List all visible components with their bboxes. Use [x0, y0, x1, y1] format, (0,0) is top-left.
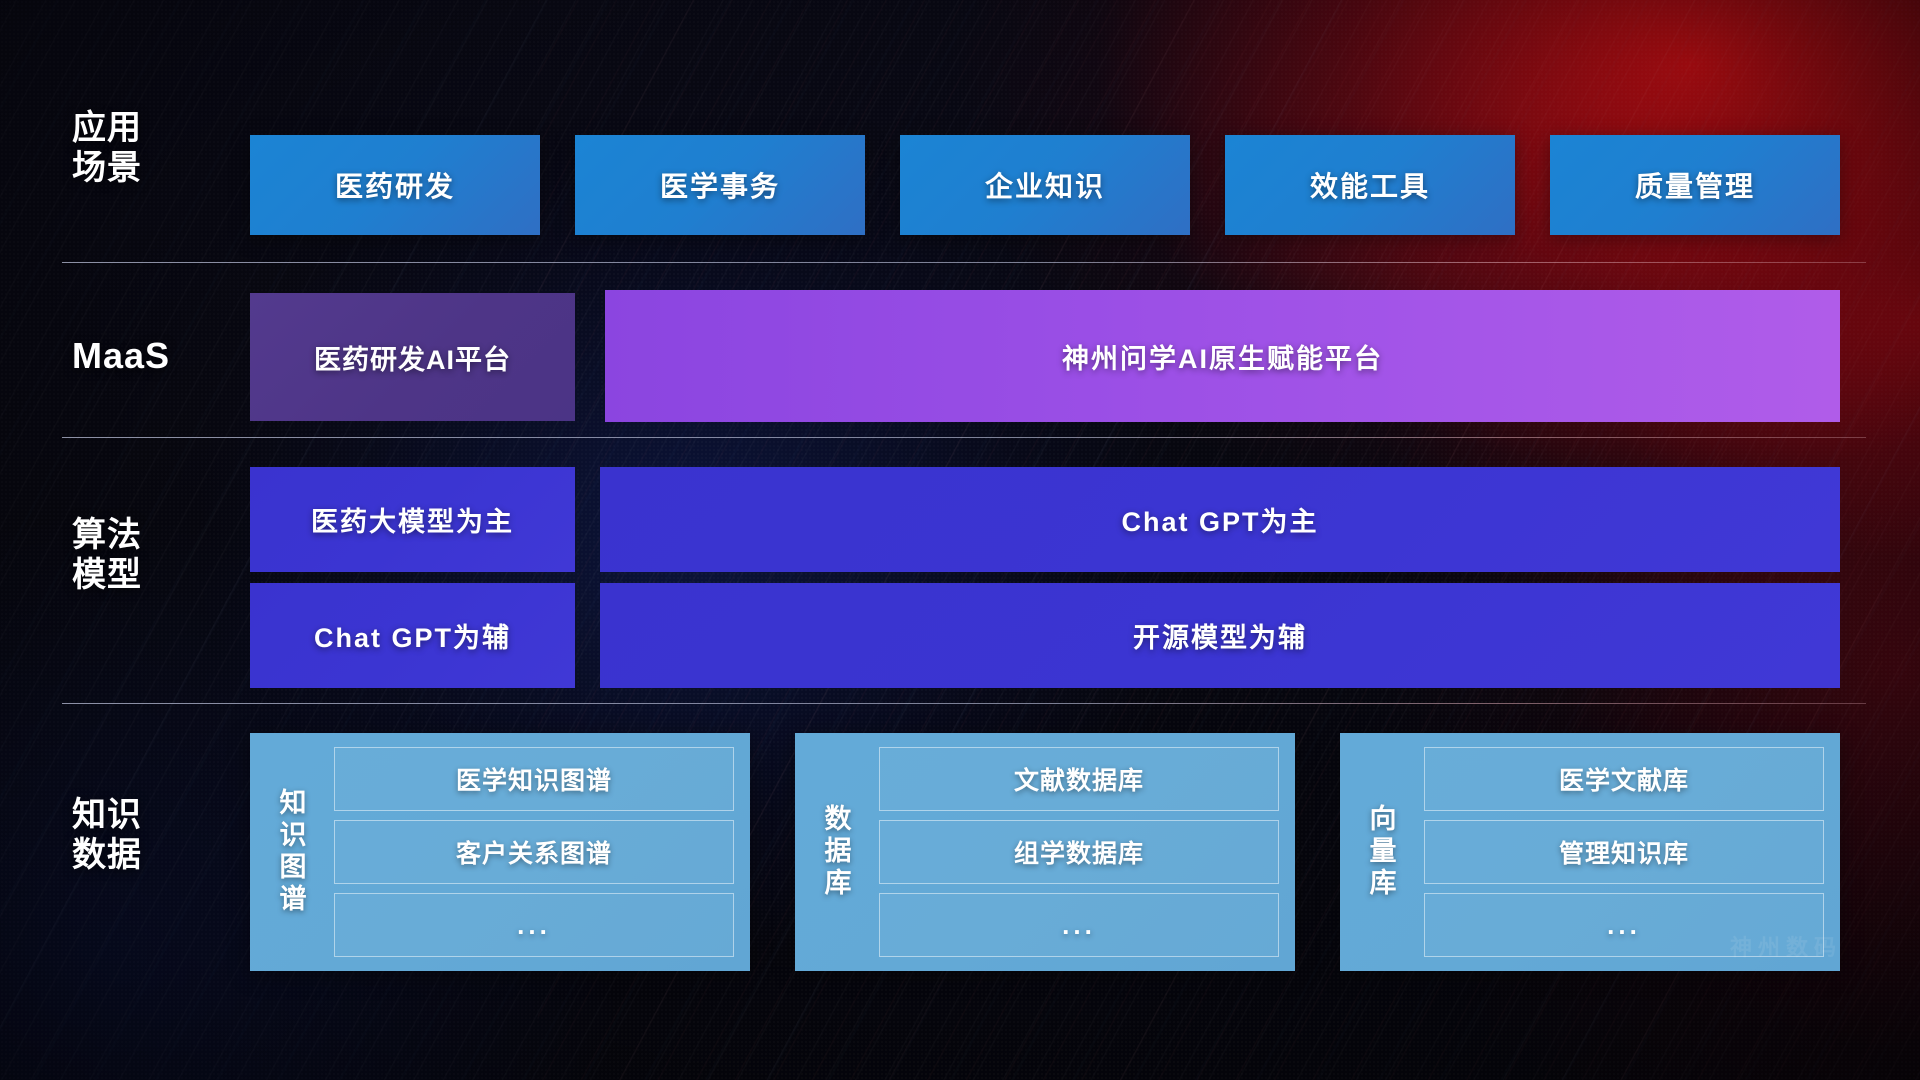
- knowledge-group-database[interactable]: 数 据 库 文献数据库 组学数据库 ...: [795, 733, 1295, 971]
- divider-algorithm-knowledge: [62, 703, 1866, 704]
- application-row-label-line2: 场景: [72, 148, 202, 188]
- kg-title-char-3: 图: [280, 852, 307, 884]
- knowledge-item-more-kg[interactable]: ...: [334, 893, 734, 957]
- knowledge-group-knowledge-graph[interactable]: 知 识 图 谱 医学知识图谱 客户关系图谱 ...: [250, 733, 750, 971]
- application-row-label-line1: 应用: [72, 108, 202, 148]
- vs-title-char-1: 向: [1370, 804, 1397, 836]
- knowledge-group-title-vector-store: 向 量 库: [1354, 747, 1412, 957]
- knowledge-item-customer-relation-graph[interactable]: 客户关系图谱: [334, 820, 734, 884]
- knowledge-item-management-knowledge-store[interactable]: 管理知识库: [1424, 820, 1824, 884]
- knowledge-item-omics-database[interactable]: 组学数据库: [879, 820, 1279, 884]
- knowledge-row-label-line2: 数据: [72, 835, 202, 875]
- db-title-char-1: 数: [825, 804, 852, 836]
- app-box-medical-affairs[interactable]: 医学事务: [575, 135, 865, 235]
- kg-title-char-4: 谱: [280, 884, 307, 916]
- algo-box-chatgpt-secondary[interactable]: Chat GPT为辅: [250, 583, 575, 688]
- maas-row-label: MaaS: [72, 335, 202, 377]
- knowledge-row-label-line1: 知识: [72, 795, 202, 835]
- app-box-efficiency-tools[interactable]: 效能工具: [1225, 135, 1515, 235]
- divider-application-maas: [62, 262, 1866, 263]
- vs-title-char-2: 量: [1370, 836, 1397, 868]
- app-box-drug-rd[interactable]: 医药研发: [250, 135, 540, 235]
- knowledge-item-literature-database[interactable]: 文献数据库: [879, 747, 1279, 811]
- knowledge-group-items-vector-store: 医学文献库 管理知识库 ...: [1412, 747, 1824, 957]
- application-row-label: 应用 场景: [72, 108, 202, 188]
- algorithm-row-label-line2: 模型: [72, 555, 202, 595]
- divider-maas-algorithm: [62, 437, 1866, 438]
- knowledge-item-more-db[interactable]: ...: [879, 893, 1279, 957]
- algorithm-row-label-line1: 算法: [72, 515, 202, 555]
- db-title-char-2: 据: [825, 836, 852, 868]
- architecture-diagram: 应用 场景 医药研发 医学事务 企业知识 效能工具 质量管理 MaaS 医药研发…: [0, 0, 1920, 1080]
- knowledge-group-vector-store[interactable]: 向 量 库 医学文献库 管理知识库 ...: [1340, 733, 1840, 971]
- algo-box-opensource-model-secondary[interactable]: 开源模型为辅: [600, 583, 1840, 688]
- algo-box-chatgpt-primary[interactable]: Chat GPT为主: [600, 467, 1840, 572]
- knowledge-item-medical-literature-store[interactable]: 医学文献库: [1424, 747, 1824, 811]
- vs-title-char-3: 库: [1370, 868, 1397, 900]
- knowledge-group-title-knowledge-graph: 知 识 图 谱: [264, 747, 322, 957]
- kg-title-char-1: 知: [280, 788, 307, 820]
- maas-box-drug-rd-ai-platform[interactable]: 医药研发AI平台: [250, 293, 575, 421]
- algo-box-drug-large-model-primary[interactable]: 医药大模型为主: [250, 467, 575, 572]
- knowledge-item-medical-knowledge-graph[interactable]: 医学知识图谱: [334, 747, 734, 811]
- db-title-char-3: 库: [825, 868, 852, 900]
- knowledge-group-title-database: 数 据 库: [809, 747, 867, 957]
- knowledge-row-label: 知识 数据: [72, 795, 202, 875]
- kg-title-char-2: 识: [280, 820, 307, 852]
- app-box-enterprise-knowledge[interactable]: 企业知识: [900, 135, 1190, 235]
- knowledge-group-items-database: 文献数据库 组学数据库 ...: [867, 747, 1279, 957]
- algorithm-row-label: 算法 模型: [72, 515, 202, 595]
- knowledge-group-items-knowledge-graph: 医学知识图谱 客户关系图谱 ...: [322, 747, 734, 957]
- app-box-quality-management[interactable]: 质量管理: [1550, 135, 1840, 235]
- knowledge-item-more-vs[interactable]: ...: [1424, 893, 1824, 957]
- maas-box-shenzhou-wenxue-platform[interactable]: 神州问学AI原生赋能平台: [605, 290, 1840, 422]
